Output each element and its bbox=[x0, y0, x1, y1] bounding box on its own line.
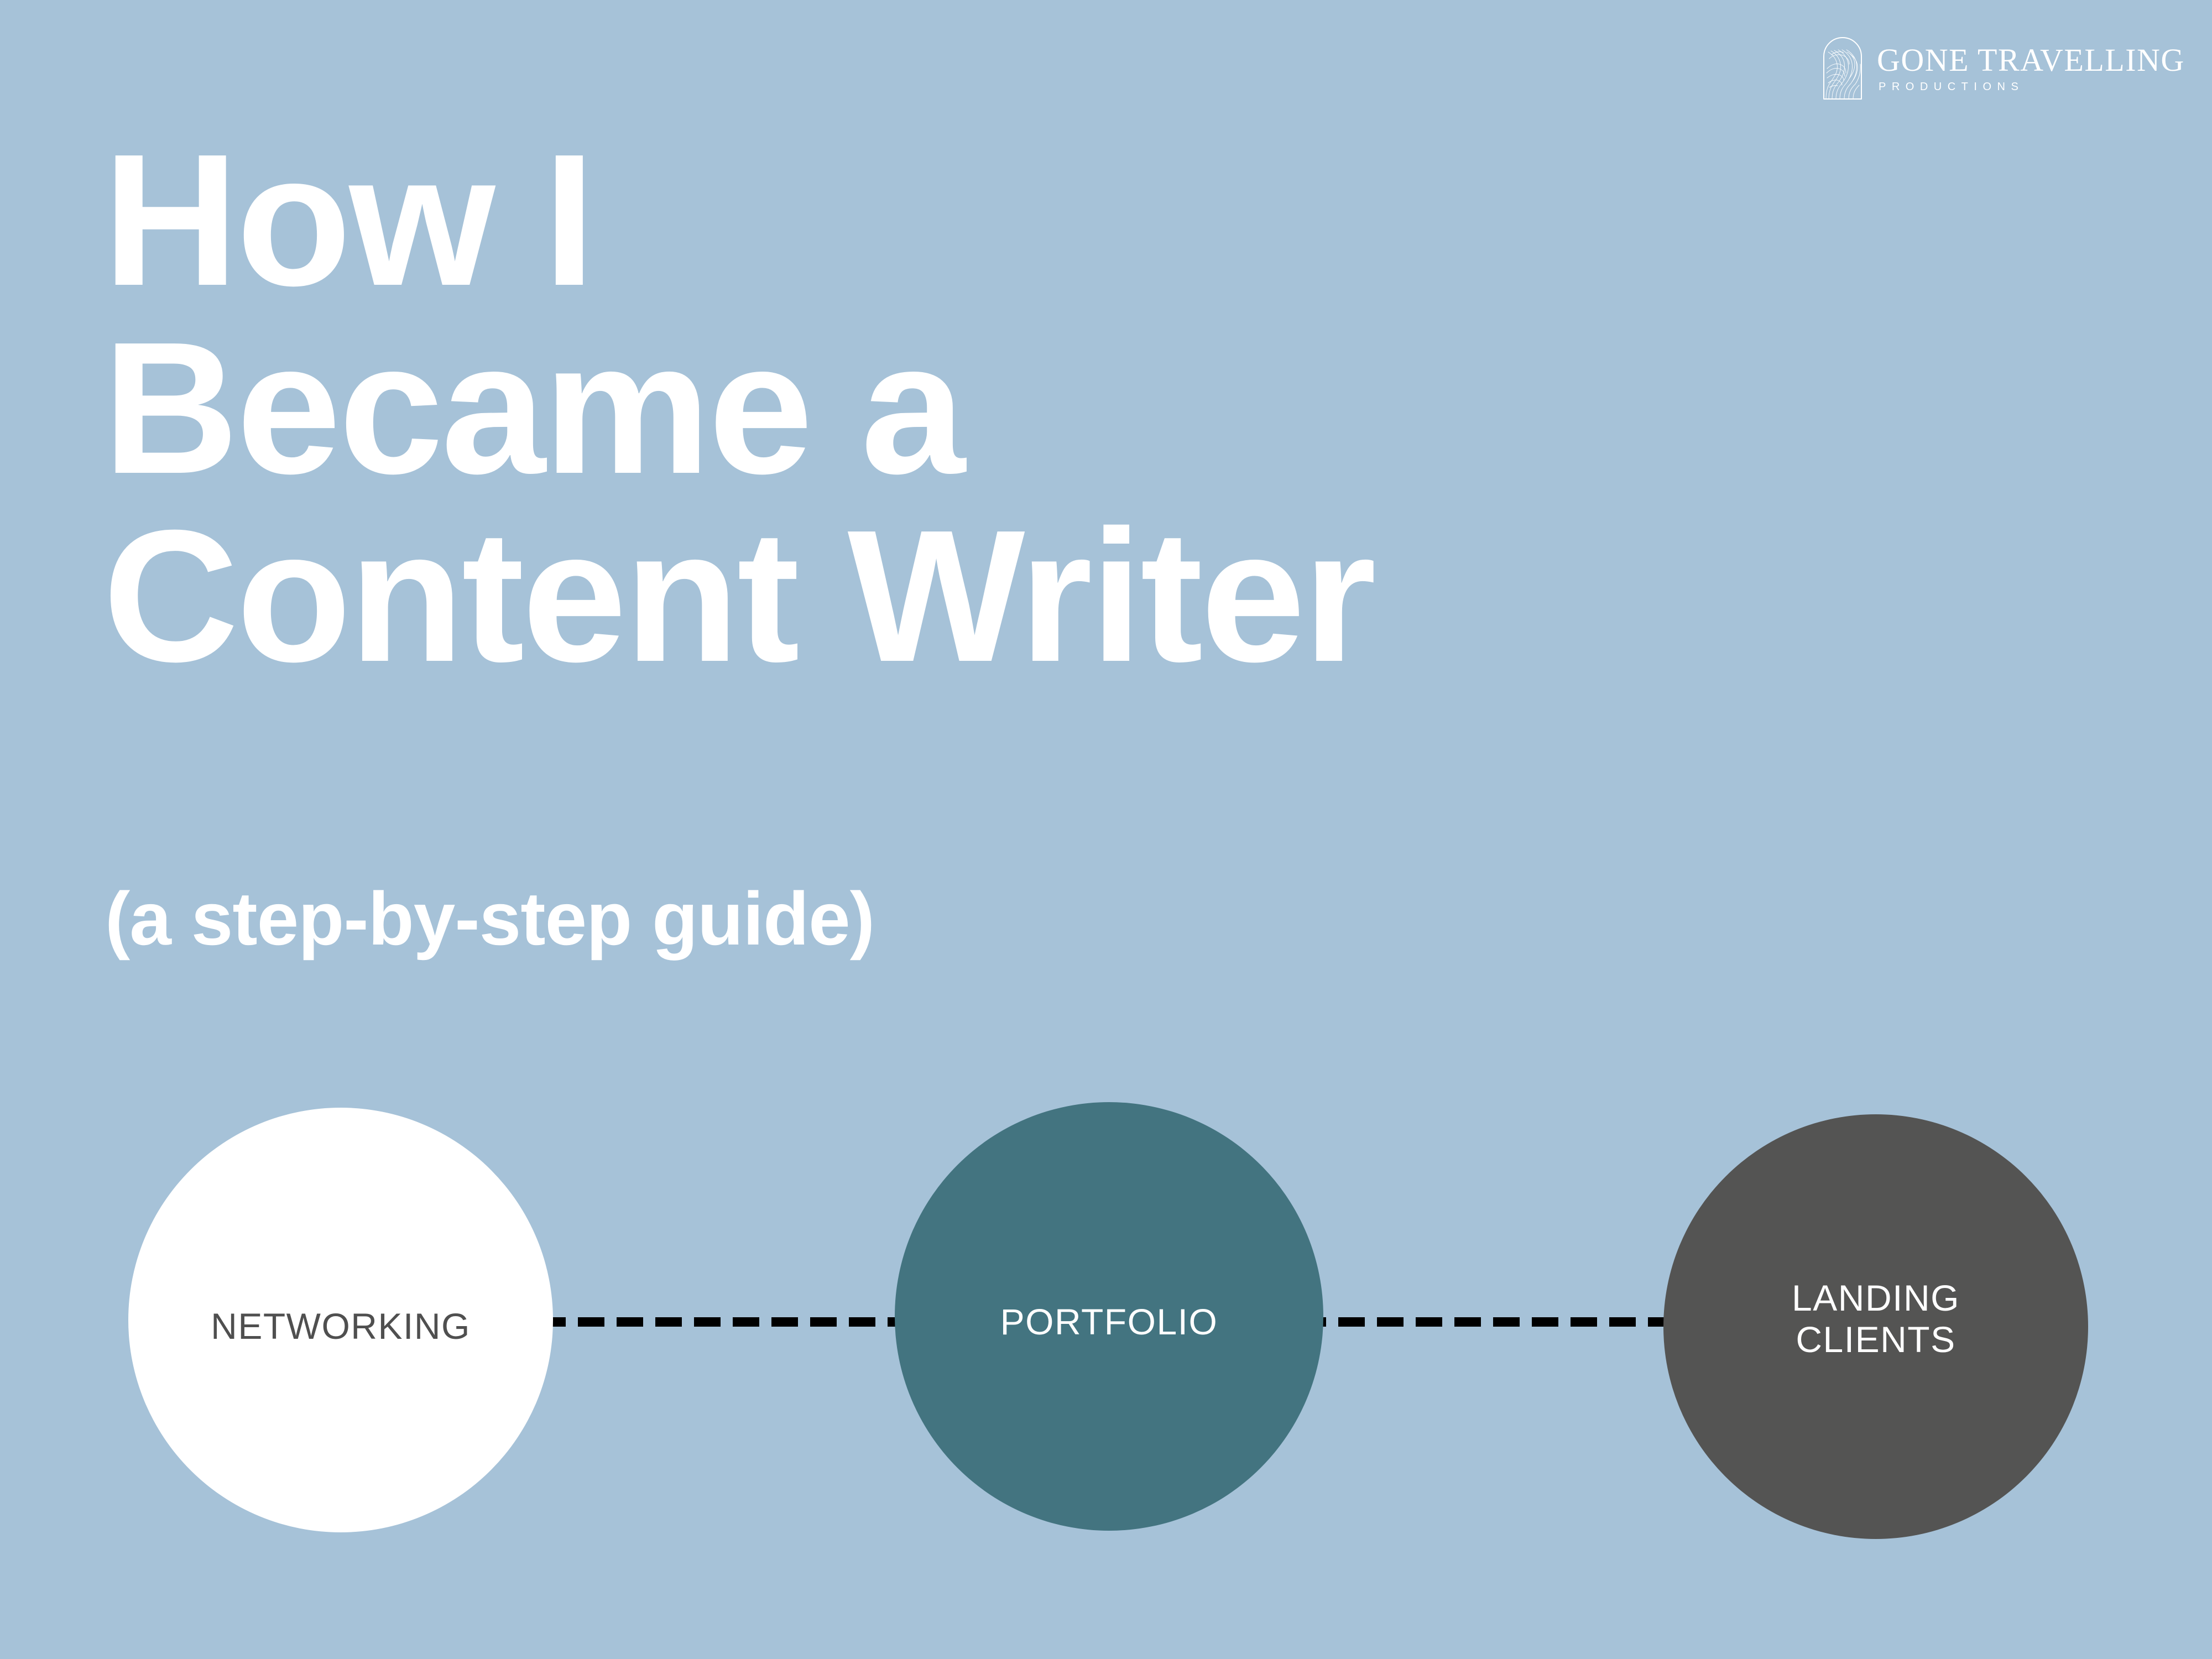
connector-portfolio-to-landing bbox=[1300, 1317, 1687, 1327]
logo-wordmark: GONE TRAVELLING PRODUCTIONS bbox=[1877, 43, 2185, 94]
title-line-1: How I bbox=[103, 126, 1374, 314]
logo-subtitle: PRODUCTIONS bbox=[1879, 81, 2024, 93]
slide-canvas: GONE TRAVELLING PRODUCTIONS How I Became… bbox=[0, 0, 2212, 1659]
flow-node-landing-clients-label: LANDING CLIENTS bbox=[1792, 1277, 1960, 1360]
arch-topographic-icon bbox=[1823, 36, 1863, 100]
flow-node-landing-clients[interactable]: LANDING CLIENTS bbox=[1663, 1114, 2088, 1539]
connector-networking-to-portfolio bbox=[539, 1317, 926, 1327]
logo-name: GONE TRAVELLING bbox=[1877, 45, 2185, 76]
title-line-2: Became a bbox=[103, 314, 1374, 502]
title-line-3: Content Writer bbox=[103, 502, 1374, 690]
page-subtitle: (a step-by-step guide) bbox=[105, 875, 874, 962]
page-title: How I Became a Content Writer bbox=[103, 126, 1374, 690]
flow-node-networking-label: NETWORKING bbox=[211, 1306, 471, 1347]
flow-node-networking[interactable]: NETWORKING bbox=[128, 1108, 553, 1532]
brand-logo: GONE TRAVELLING PRODUCTIONS bbox=[1823, 32, 2199, 104]
process-flow-diagram: NETWORKING PORTFOLIO LANDING CLIENTS bbox=[0, 1084, 2212, 1582]
flow-node-portfolio-label: PORTFOLIO bbox=[1000, 1301, 1218, 1343]
flow-node-portfolio[interactable]: PORTFOLIO bbox=[895, 1102, 1323, 1531]
